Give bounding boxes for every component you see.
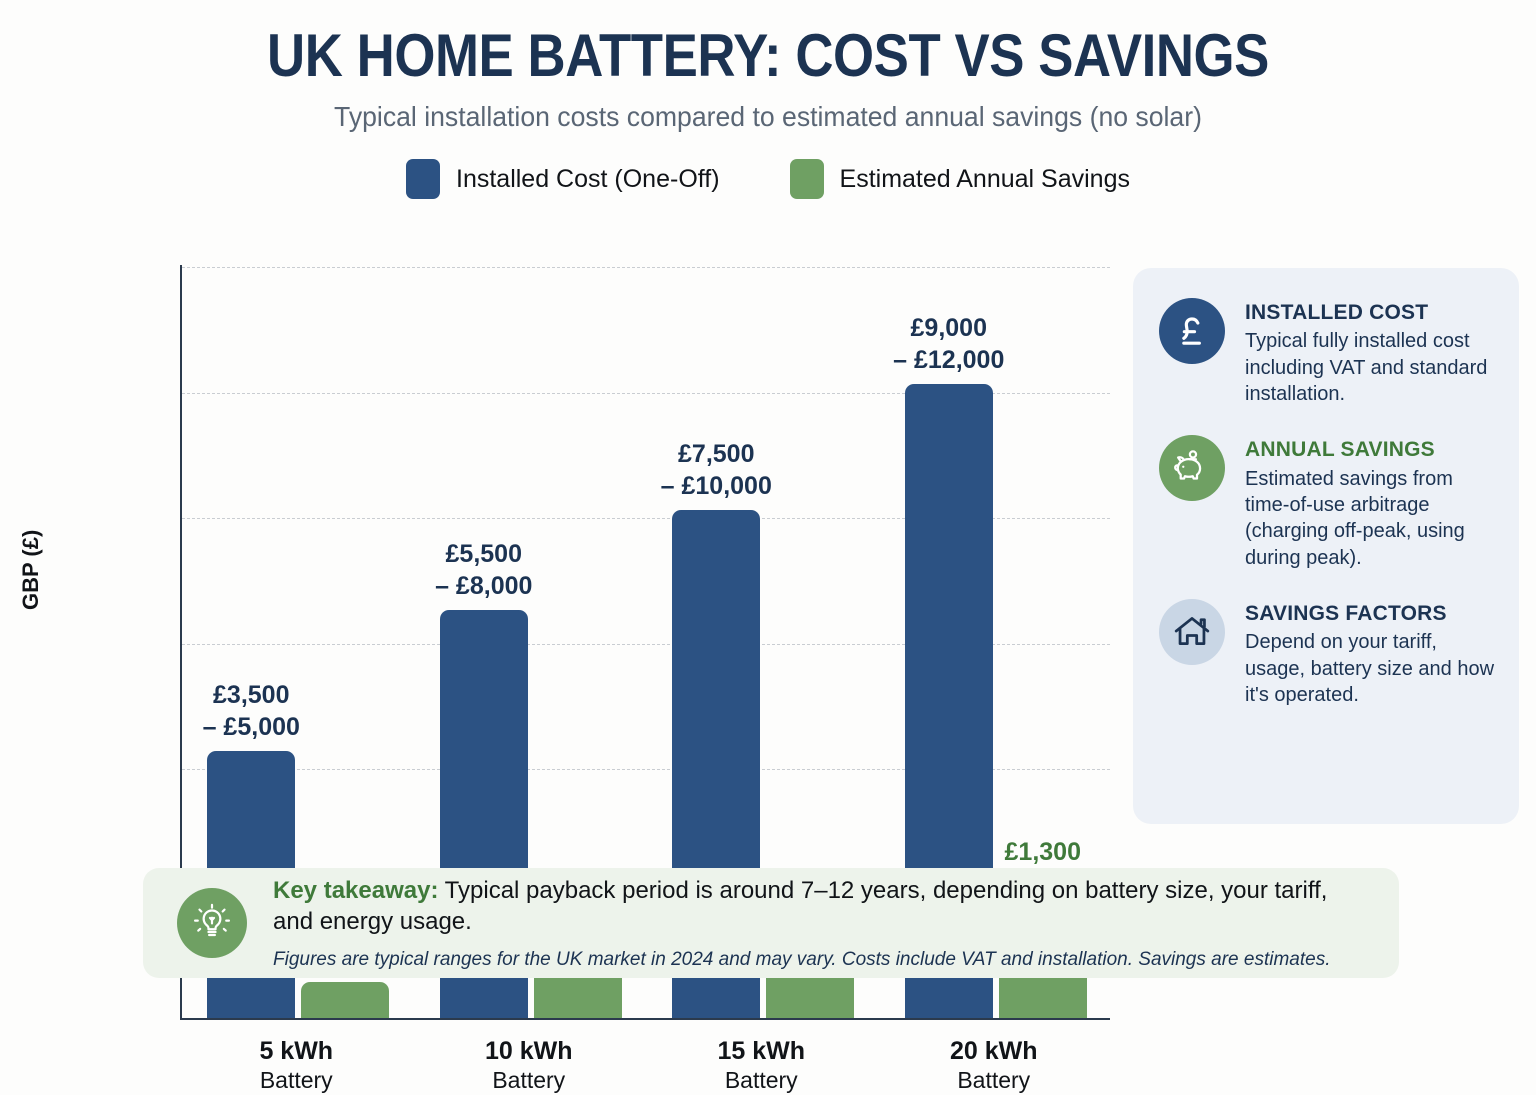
pound-icon: [1159, 298, 1225, 364]
piggy-bank-icon: [1159, 435, 1225, 501]
house-icon: [1159, 599, 1225, 665]
side-item-annual-savings: ANNUAL SAVINGS Estimated savings from ti…: [1159, 435, 1495, 571]
x-axis-tick-label: 5 kWhBattery: [186, 1037, 406, 1095]
side-item-savings-factors: SAVINGS FACTORS Depend on your tariff, u…: [1159, 599, 1495, 708]
page-subtitle: Typical installation costs compared to e…: [38, 101, 1497, 133]
chart-legend: Installed Cost (One-Off) Estimated Annua…: [0, 159, 1536, 199]
infographic-header: UK HOME BATTERY: COST VS SAVINGS Typical…: [0, 0, 1536, 199]
side-heading-savings-factors: SAVINGS FACTORS: [1245, 601, 1495, 626]
side-body-installed-cost: Typical fully installed cost including V…: [1245, 328, 1495, 407]
side-heading-annual-savings: ANNUAL SAVINGS: [1245, 437, 1495, 462]
x-axis-tick-label: 15 kWhBattery: [651, 1037, 871, 1095]
takeaway-main-line: Key takeaway: Typical payback period is …: [273, 875, 1365, 937]
x-axis-tick-label: 10 kWhBattery: [419, 1037, 639, 1095]
bar-value-label: £3,500– £5,000: [203, 679, 300, 743]
bar-value-label: £7,500– £10,000: [661, 438, 772, 502]
side-heading-installed-cost: INSTALLED COST: [1245, 300, 1495, 325]
bar-annual-savings[interactable]: £450– £700: [301, 982, 389, 1018]
takeaway-note: Figures are typical ranges for the UK ma…: [273, 949, 1365, 971]
x-axis-tick-label: 20 kWhBattery: [884, 1037, 1104, 1095]
lightbulb-icon: [177, 888, 247, 958]
legend-label-annual-savings: Estimated Annual Savings: [840, 165, 1130, 194]
side-item-installed-cost: INSTALLED COST Typical fully installed c…: [1159, 298, 1495, 407]
bar-value-label: £9,000– £12,000: [893, 312, 1004, 376]
key-takeaway-banner: Key takeaway: Typical payback period is …: [143, 868, 1399, 978]
side-body-annual-savings: Estimated savings from time-of-use arbit…: [1245, 466, 1495, 572]
legend-item-annual-savings[interactable]: Estimated Annual Savings: [790, 159, 1130, 199]
legend-swatch-savings-icon: [790, 159, 824, 199]
takeaway-key-label: Key takeaway:: [273, 877, 438, 904]
side-body-savings-factors: Depend on your tariff, usage, battery si…: [1245, 629, 1495, 708]
bar-value-label: £5,500– £8,000: [435, 538, 532, 602]
legend-item-installed-cost[interactable]: Installed Cost (One-Off): [406, 159, 720, 199]
legend-swatch-cost-icon: [406, 159, 440, 199]
info-side-panel: INSTALLED COST Typical fully installed c…: [1133, 268, 1519, 824]
page-title: UK HOME BATTERY: COST VS SAVINGS: [92, 24, 1444, 87]
bar-chart: £3,500– £5,000£450– £700£5,500– £8,000£7…: [0, 255, 1130, 855]
legend-label-installed-cost: Installed Cost (One-Off): [456, 165, 720, 194]
